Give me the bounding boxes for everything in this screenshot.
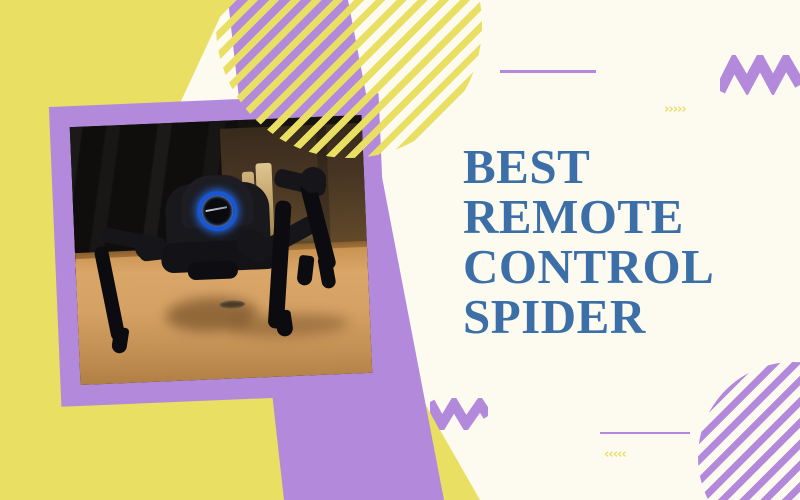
page-title: Best Remote Control Spider	[463, 142, 793, 342]
zigzag-bottom-icon	[430, 398, 488, 430]
title-line-4: Spider	[463, 292, 793, 342]
robot-led-needle	[205, 206, 227, 212]
robot-body-belly	[187, 260, 238, 280]
rule-bottom	[600, 432, 690, 434]
chevron-right-icon: ›››››	[664, 103, 686, 116]
zigzag-top-icon	[720, 55, 800, 95]
banner-canvas: Best Remote Control Spider ››››› ‹‹‹‹‹	[0, 0, 800, 500]
rule-top	[500, 70, 596, 73]
title-line-2: Remote	[463, 192, 793, 242]
title-line-1: Best	[463, 142, 793, 192]
striped-circle-purple	[698, 362, 800, 500]
title-line-3: Control	[463, 242, 793, 292]
chevron-left-icon: ‹‹‹‹‹	[604, 448, 626, 461]
